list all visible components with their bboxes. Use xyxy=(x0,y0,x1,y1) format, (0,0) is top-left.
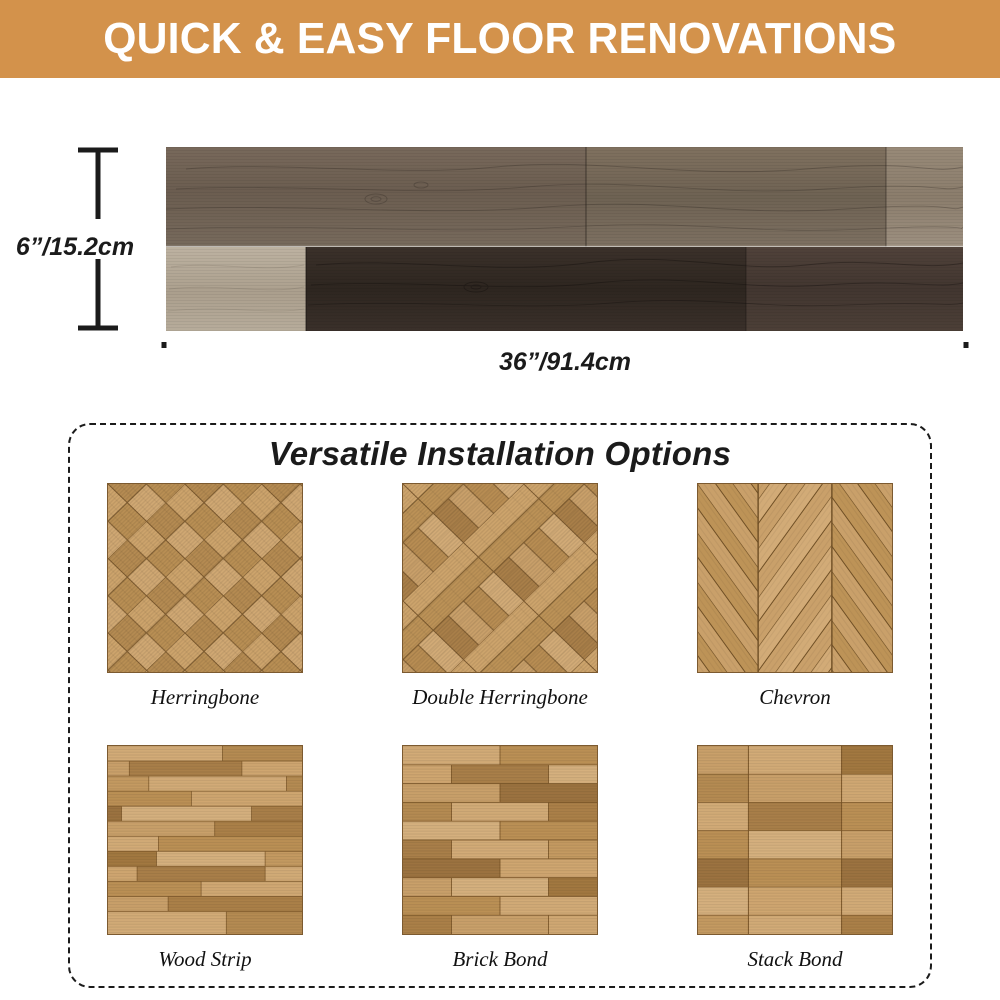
pattern-row-2: Wood Strip xyxy=(105,745,895,990)
pattern-cell-chevron[interactable]: Chevron xyxy=(695,483,895,728)
wood-strip-swatch xyxy=(107,745,303,935)
product-plank-sample xyxy=(166,147,963,331)
chevron-label: Chevron xyxy=(759,685,831,710)
pattern-cell-double-herringbone[interactable]: Double Herringbone xyxy=(400,483,600,728)
page-title: QUICK & EASY FLOOR RENOVATIONS xyxy=(103,14,896,64)
herringbone-label: Herringbone xyxy=(151,685,260,710)
pattern-cell-brick-bond[interactable]: Brick Bond xyxy=(400,745,600,990)
wood-strip-label: Wood Strip xyxy=(158,947,251,972)
herringbone-swatch xyxy=(107,483,303,673)
brick-bond-swatch xyxy=(402,745,598,935)
pattern-cell-herringbone[interactable]: Herringbone xyxy=(105,483,305,728)
chevron-swatch xyxy=(697,483,893,673)
installation-options-title: Versatile Installation Options xyxy=(68,435,932,473)
pattern-cell-wood-strip[interactable]: Wood Strip xyxy=(105,745,305,990)
pattern-grid: Herringbone xyxy=(105,483,895,983)
pattern-row-1: Herringbone xyxy=(105,483,895,728)
brick-bond-label: Brick Bond xyxy=(452,947,547,972)
stack-bond-swatch xyxy=(697,745,893,935)
stack-bond-label: Stack Bond xyxy=(747,947,842,972)
height-dimension-label: 6”/15.2cm xyxy=(0,233,150,262)
width-dimension-label-wrap: 36”/91.4cm xyxy=(160,348,970,377)
double-herringbone-label: Double Herringbone xyxy=(412,685,588,710)
width-dimension-label: 36”/91.4cm xyxy=(489,348,641,376)
header-banner: QUICK & EASY FLOOR RENOVATIONS xyxy=(0,0,1000,78)
pattern-cell-stack-bond[interactable]: Stack Bond xyxy=(695,745,895,990)
double-herringbone-swatch xyxy=(402,483,598,673)
